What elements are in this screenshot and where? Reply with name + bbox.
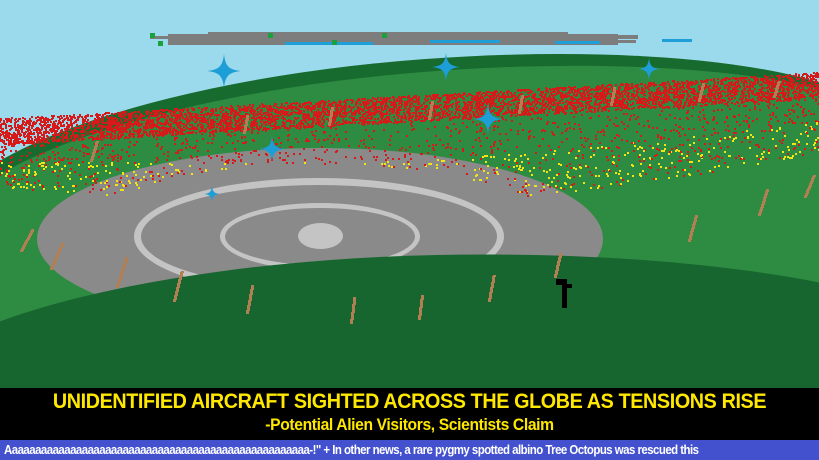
craft-light-1 (150, 33, 155, 38)
craft-tail-upper (612, 35, 638, 39)
craft-stripe-4 (662, 39, 692, 42)
craft-tail-lower (616, 40, 636, 43)
craft-stripe-1 (285, 42, 373, 45)
headline-text: UNIDENTIFIED AIRCRAFT SIGHTED ACROSS THE… (25, 390, 795, 414)
unidentified-aircraft (150, 28, 636, 50)
news-ticker-bar: Aaaaaaaaaaaaaaaaaaaaaaaaaaaaaaaaaaaaaaaa… (0, 440, 819, 460)
craft-hull-upper (208, 32, 568, 37)
vegetation-layer (0, 0, 819, 388)
craft-light-2 (158, 41, 163, 46)
post-arm-icon (556, 279, 566, 285)
craft-light-3 (268, 33, 273, 38)
ticker-text: Aaaaaaaaaaaaaaaaaaaaaaaaaaaaaaaaaaaaaaaa… (4, 442, 699, 457)
sparkle-1-icon (207, 54, 241, 88)
sparkle-5-icon (259, 136, 285, 162)
craft-stripe-3 (555, 41, 600, 44)
news-banner: UNIDENTIFIED AIRCRAFT SIGHTED ACROSS THE… (0, 388, 819, 460)
news-broadcast-frame: UNIDENTIFIED AIRCRAFT SIGHTED ACROSS THE… (0, 0, 819, 460)
craft-light-4 (332, 40, 337, 45)
sparkle-2-icon (432, 53, 460, 81)
post-arm2-icon (566, 284, 572, 288)
craft-light-5 (382, 33, 387, 38)
subheadline-text: -Potential Alien Visitors, Scientists Cl… (33, 415, 786, 435)
craft-stripe-2 (430, 40, 500, 43)
sparkle-6-icon (204, 186, 220, 202)
craft-nose (150, 36, 190, 39)
sparkle-3-icon (638, 58, 660, 80)
landscape-scene (0, 0, 819, 388)
sparkle-4-icon (473, 104, 503, 134)
